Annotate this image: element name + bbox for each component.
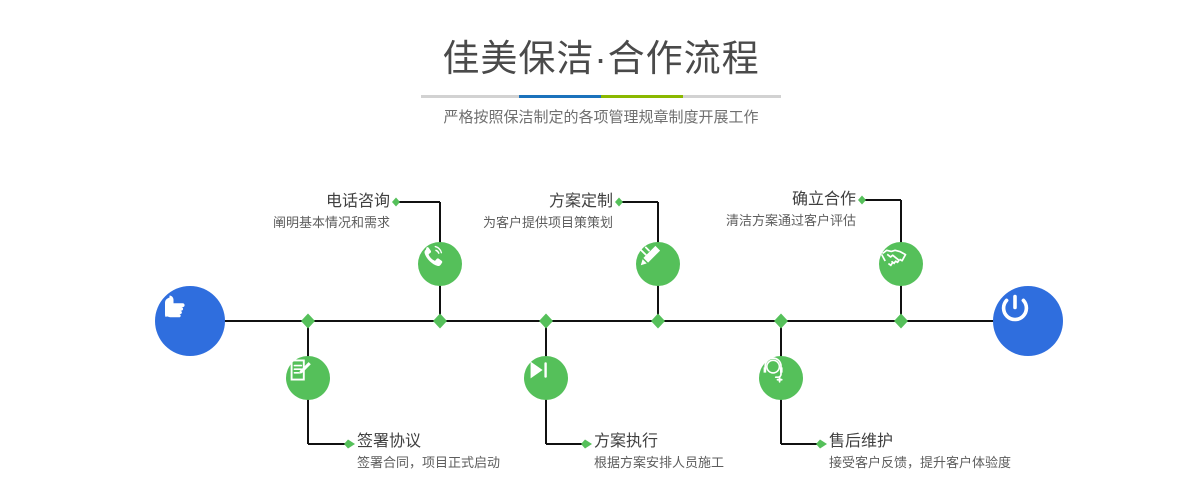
label-desc-step-3: 为客户提供项目策策划 [330,213,613,233]
spine-diamond-step-1 [433,314,447,329]
label-title-step-6: 售后维护 [829,431,1189,453]
flowchart-page: 佳美保洁·合作流程 严格按照保洁制定的各项管理规章制度开展工作 [0,0,1202,502]
process-flow-diagram: 电话咨询 阐明基本情况和需求 签署协议 签署合同，项目正式启动 方案定制 [0,0,1202,502]
pointing-hand-icon [155,286,195,326]
flow-start-endpoint[interactable] [155,286,225,356]
node-icon-step-5[interactable] [879,242,923,286]
spine-diamond-step-5 [894,314,908,329]
power-icon [993,286,1037,330]
handshake-icon [879,242,909,272]
spine-diamond-step-6 [774,314,788,329]
label-desc-step-6: 接受客户反馈，提升客户体验度 [829,453,1189,473]
label-step-5: 确立合作 清洁方案通过客户评估 [590,189,856,231]
label-diamond-step-2 [344,440,355,449]
label-desc-step-5: 清洁方案通过客户评估 [590,211,856,231]
node-icon-step-6[interactable] [759,356,803,400]
node-icon-step-1[interactable] [418,242,462,286]
connector-lines [0,0,1202,502]
headset-support-icon [759,356,787,384]
play-execute-icon [524,356,552,384]
label-title-step-5: 确立合作 [590,189,856,211]
spine-diamond-step-4 [539,314,553,329]
node-icon-step-3[interactable] [636,242,680,286]
node-icon-step-2[interactable] [286,356,330,400]
node-icon-step-4[interactable] [524,356,568,400]
phone-call-icon [418,242,446,270]
label-step-6: 售后维护 接受客户反馈，提升客户体验度 [829,431,1189,473]
label-title-step-3: 方案定制 [330,191,613,213]
spine-diamond-step-3 [651,314,665,329]
label-diamond-step-5 [858,196,866,205]
spine-diamond-step-2 [301,314,315,329]
document-edit-icon [286,356,314,384]
pencil-plan-icon [636,242,664,270]
label-step-3: 方案定制 为客户提供项目策策划 [330,191,613,233]
flow-end-endpoint[interactable] [993,286,1063,356]
